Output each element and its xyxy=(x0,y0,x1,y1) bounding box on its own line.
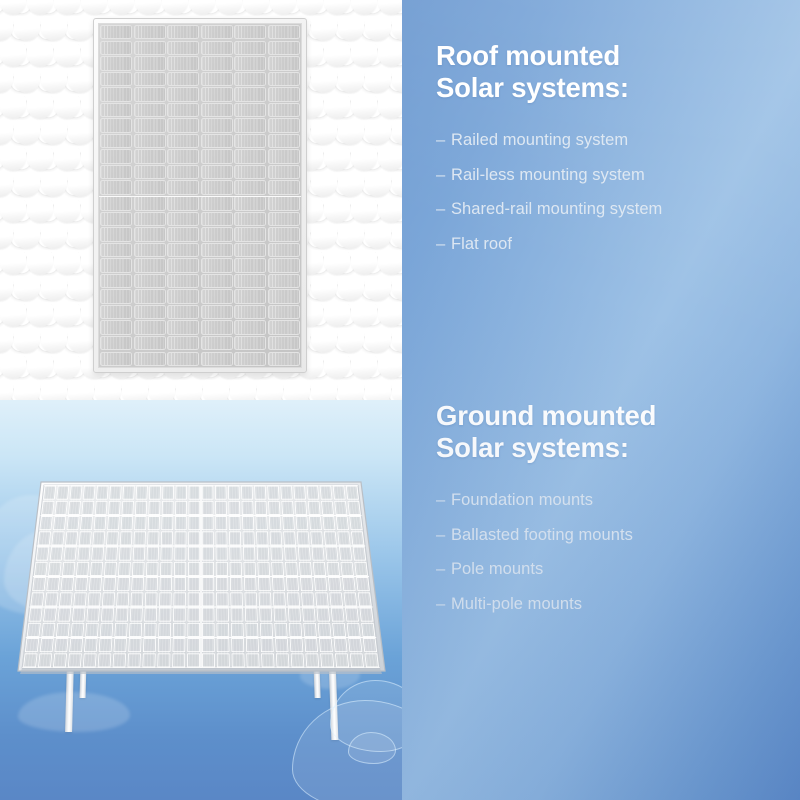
roof-tile xyxy=(14,224,40,249)
roof-tile xyxy=(311,276,337,301)
list-item[interactable]: – Shared-rail mounting system xyxy=(436,199,786,219)
bullet-dash-icon: – xyxy=(436,234,451,254)
roof-tile xyxy=(54,42,80,67)
solar-cell xyxy=(54,517,66,530)
solar-cell xyxy=(57,486,69,499)
roof-tile xyxy=(378,94,402,119)
roof-tile xyxy=(54,146,80,171)
solar-cell xyxy=(268,305,300,319)
solar-cell xyxy=(100,180,132,194)
solar-cell xyxy=(134,243,166,257)
solar-cell xyxy=(234,320,266,334)
roof-solar-panel xyxy=(93,18,307,373)
roof-tile xyxy=(338,172,364,197)
roof-tile xyxy=(68,224,94,249)
solar-cell xyxy=(167,165,199,179)
roof-tile xyxy=(27,94,53,119)
roof-tile xyxy=(0,0,26,15)
solar-cell xyxy=(362,623,375,636)
solar-cell xyxy=(268,87,300,101)
solar-cell xyxy=(358,593,371,606)
roof-tile xyxy=(14,380,40,400)
solar-cell xyxy=(234,134,266,148)
solar-cell xyxy=(134,289,166,303)
roof-tile xyxy=(365,16,391,41)
solar-cell xyxy=(343,578,356,591)
roof-tile xyxy=(378,0,402,15)
solar-cell xyxy=(167,227,199,241)
solar-cell xyxy=(134,56,166,70)
roof-tile xyxy=(0,120,13,145)
solar-cell xyxy=(234,56,266,70)
solar-cell xyxy=(268,320,300,334)
roof-tile xyxy=(311,16,337,41)
solar-cell xyxy=(202,562,213,575)
list-item[interactable]: – Railed mounting system xyxy=(436,130,786,150)
bullet-list-ground: – Foundation mounts – Ballasted footing … xyxy=(436,490,786,614)
solar-cell xyxy=(134,72,166,86)
roof-tile xyxy=(54,94,80,119)
solar-cell xyxy=(201,41,233,55)
solar-cell xyxy=(100,320,132,334)
roof-tile xyxy=(351,198,377,223)
roof-tile xyxy=(0,224,13,249)
solar-cell xyxy=(167,258,199,272)
solar-cell xyxy=(55,501,67,514)
solar-cell xyxy=(52,532,64,545)
solar-cell xyxy=(268,336,300,350)
solar-cell xyxy=(346,486,358,499)
roof-tile xyxy=(338,380,364,400)
list-item[interactable]: – Pole mounts xyxy=(436,559,786,579)
solar-cell xyxy=(167,25,199,39)
roof-tile xyxy=(338,68,364,93)
solar-cell xyxy=(268,72,300,86)
roof-tile xyxy=(189,0,215,15)
solar-cell xyxy=(100,165,132,179)
solar-cell xyxy=(201,25,233,39)
roof-tile xyxy=(311,328,337,353)
solar-cell xyxy=(44,608,57,621)
bullet-dash-icon: – xyxy=(436,594,451,614)
roof-tile xyxy=(365,224,391,249)
solar-cell xyxy=(100,289,132,303)
solar-cell xyxy=(44,486,56,499)
solar-cell xyxy=(234,72,266,86)
infographic-canvas: Roof mounted Solar systems: – Railed mou… xyxy=(0,0,800,800)
roof-tile xyxy=(378,354,402,379)
roof-tile xyxy=(351,354,377,379)
roof-tile xyxy=(378,302,402,327)
ground-mounted-illustration xyxy=(0,400,402,800)
bush-icon xyxy=(18,692,130,732)
roof-tile xyxy=(365,68,391,93)
roof-solar-panel-laminate xyxy=(98,23,302,368)
solar-cell xyxy=(167,103,199,117)
solar-cell xyxy=(201,305,233,319)
solar-cell xyxy=(50,547,63,560)
roof-tile xyxy=(68,172,94,197)
solar-cell xyxy=(49,562,62,575)
list-item-label: Railed mounting system xyxy=(451,130,628,150)
solar-cell xyxy=(234,305,266,319)
solar-cell xyxy=(134,41,166,55)
bullet-list-roof: – Railed mounting system – Rail-less mou… xyxy=(436,130,786,254)
solar-cell xyxy=(333,623,346,636)
solar-cell xyxy=(201,212,233,226)
solar-cell xyxy=(134,196,166,210)
solar-cell xyxy=(100,134,132,148)
solar-cell xyxy=(201,196,233,210)
solar-cell xyxy=(234,258,266,272)
roof-tile xyxy=(392,16,403,41)
solar-cell xyxy=(134,274,166,288)
list-item[interactable]: – Rail-less mounting system xyxy=(436,165,786,185)
roof-tile xyxy=(351,250,377,275)
solar-cell xyxy=(268,165,300,179)
roof-tile xyxy=(54,0,80,15)
list-item[interactable]: – Multi-pole mounts xyxy=(436,594,786,614)
bullet-dash-icon: – xyxy=(436,130,451,150)
solar-cell xyxy=(134,149,166,163)
solar-cell xyxy=(335,501,347,514)
roof-tile xyxy=(311,380,337,400)
solar-cell xyxy=(100,336,132,350)
section-heading-ground: Ground mounted Solar systems: xyxy=(436,400,786,464)
roof-tile xyxy=(0,328,13,353)
roof-tile xyxy=(365,380,391,400)
solar-cell xyxy=(134,227,166,241)
solar-cell xyxy=(100,56,132,70)
roof-tile xyxy=(162,0,188,15)
roof-tile xyxy=(41,16,67,41)
roof-tile xyxy=(324,0,350,15)
list-item-label: Flat roof xyxy=(451,234,512,254)
solar-cell xyxy=(234,103,266,117)
solar-cell xyxy=(31,593,44,606)
solar-cell xyxy=(134,320,166,334)
solar-cell xyxy=(234,243,266,257)
solar-cell xyxy=(234,118,266,132)
solar-cell xyxy=(328,578,341,591)
solar-cell xyxy=(363,639,376,652)
roof-tile xyxy=(41,172,67,197)
solar-cell xyxy=(234,180,266,194)
solar-cell xyxy=(268,118,300,132)
solar-cell xyxy=(167,41,199,55)
solar-cell xyxy=(35,562,48,575)
list-item[interactable]: – Foundation mounts xyxy=(436,490,786,510)
solar-cell xyxy=(365,654,379,667)
roof-tile xyxy=(351,146,377,171)
roof-tile xyxy=(27,250,53,275)
heading-line-1: Roof mounted xyxy=(436,40,620,71)
roof-tile xyxy=(324,198,350,223)
roof-tile xyxy=(324,42,350,67)
roof-tile xyxy=(392,276,403,301)
roof-tile xyxy=(14,120,40,145)
roof-tile xyxy=(338,276,364,301)
solar-cell xyxy=(134,134,166,148)
solar-cell xyxy=(350,517,362,530)
roof-tile xyxy=(27,354,53,379)
solar-cell xyxy=(53,654,66,667)
solar-cell xyxy=(331,608,344,621)
roof-tile xyxy=(54,198,80,223)
solar-cell xyxy=(334,639,347,652)
solar-cell xyxy=(201,227,233,241)
roof-tile xyxy=(41,68,67,93)
roof-tile xyxy=(216,0,242,15)
text-column: Roof mounted Solar systems: – Railed mou… xyxy=(402,0,800,800)
solar-cell xyxy=(134,336,166,350)
roof-tile xyxy=(392,172,403,197)
bullet-dash-icon: – xyxy=(436,490,451,510)
solar-cell xyxy=(59,593,72,606)
solar-cell xyxy=(134,118,166,132)
solar-cell xyxy=(167,212,199,226)
roof-tile xyxy=(338,120,364,145)
solar-cell xyxy=(347,623,360,636)
list-item-label: Rail-less mounting system xyxy=(451,165,645,185)
roof-tile xyxy=(122,380,148,400)
roof-tile xyxy=(27,0,53,15)
roof-tile xyxy=(0,146,26,171)
solar-cell xyxy=(268,134,300,148)
roof-tile xyxy=(27,302,53,327)
roof-tile xyxy=(270,0,296,15)
solar-cell xyxy=(234,274,266,288)
solar-cell xyxy=(201,243,233,257)
solar-cell xyxy=(134,103,166,117)
solar-cell xyxy=(167,134,199,148)
solar-cell xyxy=(100,258,132,272)
solar-cell xyxy=(167,118,199,132)
solar-cell xyxy=(353,547,366,560)
roof-tile xyxy=(338,16,364,41)
solar-cell xyxy=(268,149,300,163)
solar-cell xyxy=(336,517,348,530)
roof-tile xyxy=(14,172,40,197)
solar-cell xyxy=(38,532,51,545)
solar-cell xyxy=(167,320,199,334)
solar-cell xyxy=(234,212,266,226)
solar-cell xyxy=(268,274,300,288)
solar-cell xyxy=(134,352,166,366)
solar-cell xyxy=(201,180,233,194)
solar-cell xyxy=(25,639,38,652)
roof-tile xyxy=(378,250,402,275)
heading-line-1: Ground mounted xyxy=(436,400,656,431)
solar-cell xyxy=(346,608,359,621)
solar-cell xyxy=(100,274,132,288)
solar-cell xyxy=(134,305,166,319)
roof-tile xyxy=(324,302,350,327)
solar-cell xyxy=(234,352,266,366)
solar-cell xyxy=(201,149,233,163)
roof-tile xyxy=(14,68,40,93)
roof-tile xyxy=(378,42,402,67)
roof-tile xyxy=(68,120,94,145)
solar-cell xyxy=(201,320,233,334)
roof-tile xyxy=(311,224,337,249)
solar-cell xyxy=(167,274,199,288)
solar-cell xyxy=(201,165,233,179)
roof-tile xyxy=(311,68,337,93)
section-heading-roof: Roof mounted Solar systems: xyxy=(436,40,786,104)
solar-cell xyxy=(350,654,363,667)
solar-cell xyxy=(167,243,199,257)
solar-cell xyxy=(100,212,132,226)
bullet-dash-icon: – xyxy=(436,559,451,579)
solar-cell xyxy=(188,639,200,652)
bullet-dash-icon: – xyxy=(436,525,451,545)
solar-cell xyxy=(42,501,54,514)
roof-tile xyxy=(392,224,403,249)
roof-tile xyxy=(311,172,337,197)
roof-tile xyxy=(54,250,80,275)
solar-cell xyxy=(100,149,132,163)
solar-cell xyxy=(268,243,300,257)
bullet-dash-icon: – xyxy=(436,199,451,219)
section-ground-mounted: Ground mounted Solar systems: – Foundati… xyxy=(436,400,786,628)
solar-cell xyxy=(348,501,360,514)
roof-tile xyxy=(324,250,350,275)
panel-center-busbar xyxy=(99,196,301,198)
solar-cell xyxy=(268,289,300,303)
solar-cell xyxy=(100,103,132,117)
solar-cell xyxy=(349,639,362,652)
solar-cell xyxy=(234,227,266,241)
roof-tile xyxy=(54,302,80,327)
solar-cell xyxy=(201,352,233,366)
solar-cell xyxy=(47,578,60,591)
solar-cell xyxy=(344,593,357,606)
roof-tile xyxy=(0,198,26,223)
solar-cell xyxy=(268,41,300,55)
solar-cell xyxy=(234,196,266,210)
solar-cell xyxy=(201,103,233,117)
roof-tile xyxy=(0,68,13,93)
roof-tile xyxy=(365,120,391,145)
list-item[interactable]: – Flat roof xyxy=(436,234,786,254)
solar-cell xyxy=(27,623,40,636)
solar-cell xyxy=(100,196,132,210)
solar-cell xyxy=(201,289,233,303)
roof-tile xyxy=(297,0,323,15)
roof-tile xyxy=(392,120,403,145)
solar-cell xyxy=(40,639,53,652)
solar-cell xyxy=(134,87,166,101)
roof-tile xyxy=(68,380,94,400)
roof-tile xyxy=(311,120,337,145)
solar-cell xyxy=(201,87,233,101)
solar-cell xyxy=(167,72,199,86)
solar-cell xyxy=(330,593,343,606)
solar-cell xyxy=(167,336,199,350)
solar-cell xyxy=(33,578,46,591)
solar-cell xyxy=(167,180,199,194)
solar-cell xyxy=(201,118,233,132)
solar-cell xyxy=(100,72,132,86)
roof-tile xyxy=(324,146,350,171)
roof-tile xyxy=(81,0,107,15)
solar-cell xyxy=(202,517,213,530)
solar-cell xyxy=(40,517,52,530)
solar-cell xyxy=(234,25,266,39)
solar-cell xyxy=(56,623,69,636)
roof-tile xyxy=(176,380,202,400)
solar-cell xyxy=(333,486,345,499)
roof-tile xyxy=(324,94,350,119)
section-roof-mounted: Roof mounted Solar systems: – Railed mou… xyxy=(436,40,786,268)
roof-tile xyxy=(392,380,403,400)
roof-tile xyxy=(68,16,94,41)
solar-cell xyxy=(134,212,166,226)
roof-tile xyxy=(41,328,67,353)
roof-tile xyxy=(203,380,229,400)
list-item-label: Foundation mounts xyxy=(451,490,593,510)
solar-cell xyxy=(55,639,68,652)
solar-cell xyxy=(201,274,233,288)
roof-tile xyxy=(257,380,283,400)
solar-cell xyxy=(234,289,266,303)
solar-cell xyxy=(167,87,199,101)
list-item-label: Ballasted footing mounts xyxy=(451,525,633,545)
solar-cell xyxy=(341,562,354,575)
roof-tile xyxy=(68,68,94,93)
roof-tile xyxy=(68,276,94,301)
roof-tile xyxy=(0,172,13,197)
list-item-label: Multi-pole mounts xyxy=(451,594,582,614)
solar-cell xyxy=(61,578,74,591)
solar-cell xyxy=(268,103,300,117)
roof-tile xyxy=(338,328,364,353)
solar-cell xyxy=(189,517,200,530)
roof-tile xyxy=(338,224,364,249)
solar-cell xyxy=(339,547,352,560)
solar-cell xyxy=(42,623,55,636)
solar-cell xyxy=(268,56,300,70)
solar-cell xyxy=(100,87,132,101)
solar-cell xyxy=(58,608,71,621)
solar-cell xyxy=(100,41,132,55)
solar-cell xyxy=(100,352,132,366)
solar-cell xyxy=(167,352,199,366)
solar-cell xyxy=(167,289,199,303)
roof-tile xyxy=(41,120,67,145)
list-item[interactable]: – Ballasted footing mounts xyxy=(436,525,786,545)
roof-tile xyxy=(243,0,269,15)
solar-cell xyxy=(201,258,233,272)
solar-cell xyxy=(100,305,132,319)
solar-cell xyxy=(268,196,300,210)
roof-tile xyxy=(351,0,377,15)
solar-cell xyxy=(29,608,42,621)
roof-tile xyxy=(392,328,403,353)
solar-cell xyxy=(234,165,266,179)
solar-cell xyxy=(335,654,348,667)
solar-cell xyxy=(234,149,266,163)
roof-tile xyxy=(68,328,94,353)
solar-cell xyxy=(167,149,199,163)
solar-cell xyxy=(357,578,370,591)
solar-cell xyxy=(201,134,233,148)
solar-cell xyxy=(268,258,300,272)
solar-cell xyxy=(100,118,132,132)
solar-cell xyxy=(360,608,373,621)
roof-tile xyxy=(324,354,350,379)
